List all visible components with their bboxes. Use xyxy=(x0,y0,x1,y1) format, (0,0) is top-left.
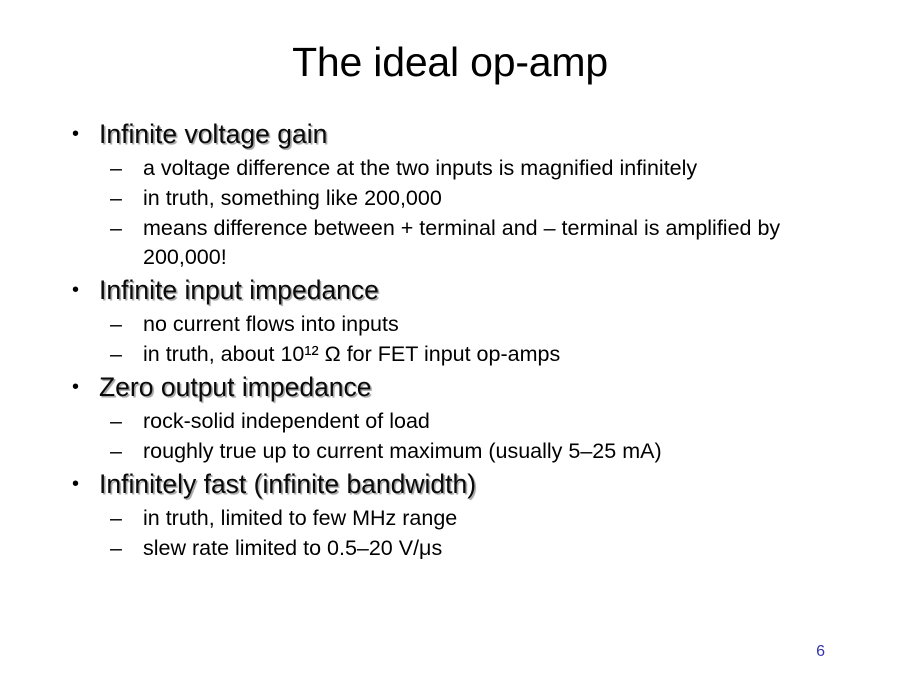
bullet-dot-icon: • xyxy=(62,274,99,307)
sub-bullet-label: rock-solid independent of load xyxy=(143,407,803,436)
bullet-group-infinite-input-impedance: • Infinite input impedance – no current … xyxy=(62,274,852,369)
bullet-infinitely-fast: • Infinitely fast (infinite bandwidth) xyxy=(62,468,852,501)
sub-bullet-item: – means difference between + terminal an… xyxy=(62,214,852,272)
dash-marker-icon: – xyxy=(110,214,143,243)
dash-marker-icon: – xyxy=(110,504,143,533)
slide-canvas: The ideal op-amp • Infinite voltage gain… xyxy=(0,0,900,675)
bullet-label: Infinitely fast (infinite bandwidth) xyxy=(99,468,852,501)
bullet-label: Zero output impedance xyxy=(99,371,852,404)
sub-bullet-item: – in truth, about 10¹² Ω for FET input o… xyxy=(62,340,852,369)
bullet-dot-icon: • xyxy=(62,371,99,404)
sub-bullet-item: – roughly true up to current maximum (us… xyxy=(62,437,852,466)
bullet-group-zero-output-impedance: • Zero output impedance – rock-solid ind… xyxy=(62,371,852,466)
bullet-group-infinitely-fast: • Infinitely fast (infinite bandwidth) –… xyxy=(62,468,852,563)
sub-bullet-label: means difference between + terminal and … xyxy=(143,214,803,272)
sub-bullet-item: – in truth, something like 200,000 xyxy=(62,184,852,213)
dash-marker-icon: – xyxy=(110,407,143,436)
sub-bullet-label: slew rate limited to 0.5–20 V/μs xyxy=(143,534,803,563)
bullet-label: Infinite voltage gain xyxy=(99,118,852,151)
sub-bullet-item: – in truth, limited to few MHz range xyxy=(62,504,852,533)
sub-bullet-label: a voltage difference at the two inputs i… xyxy=(143,154,803,183)
dash-marker-icon: – xyxy=(110,310,143,339)
sub-bullet-item: – no current flows into inputs xyxy=(62,310,852,339)
bullet-infinite-voltage-gain: • Infinite voltage gain xyxy=(62,118,852,151)
bullet-zero-output-impedance: • Zero output impedance xyxy=(62,371,852,404)
dash-marker-icon: – xyxy=(110,340,143,369)
sub-bullet-label: in truth, something like 200,000 xyxy=(143,184,803,213)
sub-bullet-label: roughly true up to current maximum (usua… xyxy=(143,437,803,466)
dash-marker-icon: – xyxy=(110,184,143,213)
slide-body: • Infinite voltage gain – a voltage diff… xyxy=(62,118,852,565)
bullet-label: Infinite input impedance xyxy=(99,274,852,307)
bullet-infinite-input-impedance: • Infinite input impedance xyxy=(62,274,852,307)
page-title: The ideal op-amp xyxy=(0,38,900,86)
page-number: 6 xyxy=(816,642,825,662)
sub-bullet-label: in truth, about 10¹² Ω for FET input op-… xyxy=(143,340,803,369)
dash-marker-icon: – xyxy=(110,534,143,563)
bullet-group-infinite-voltage-gain: • Infinite voltage gain – a voltage diff… xyxy=(62,118,852,272)
sub-bullet-label: no current flows into inputs xyxy=(143,310,803,339)
dash-marker-icon: – xyxy=(110,437,143,466)
sub-bullet-item: – slew rate limited to 0.5–20 V/μs xyxy=(62,534,852,563)
sub-bullet-item: – rock-solid independent of load xyxy=(62,407,852,436)
bullet-dot-icon: • xyxy=(62,468,99,501)
dash-marker-icon: – xyxy=(110,154,143,183)
sub-bullet-label: in truth, limited to few MHz range xyxy=(143,504,803,533)
sub-bullet-item: – a voltage difference at the two inputs… xyxy=(62,154,852,183)
bullet-dot-icon: • xyxy=(62,118,99,151)
